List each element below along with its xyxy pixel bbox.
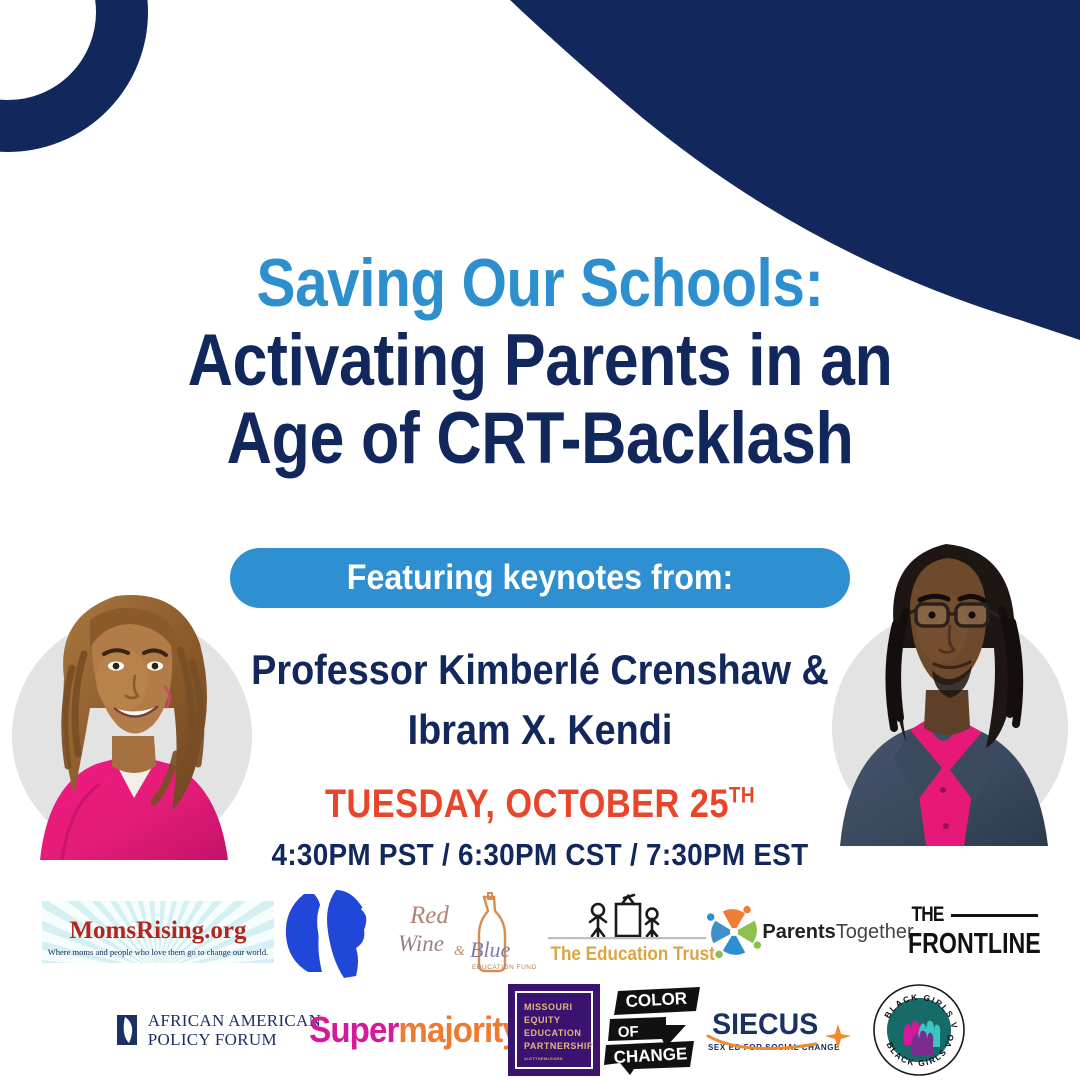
meep-line-1: MISSOURI — [524, 1001, 584, 1014]
svg-text:OF: OF — [618, 1023, 639, 1041]
save-the-date-poster: SAVE THE DATE! Saving Our Schools: Activ… — [0, 0, 1080, 1080]
momsrising-wordmark: MomsRising.org — [42, 917, 274, 945]
event-datetime: TUESDAY, OCTOBER 25TH 4:30PM PST / 6:30P… — [0, 782, 1080, 873]
speaker-line-2: Ibram X. Kendi — [54, 700, 1026, 760]
page-title: Saving Our Schools: Activating Parents i… — [0, 248, 1080, 477]
frontline-rule — [951, 914, 1038, 917]
logo-the-education-trust: The Education Trust — [542, 890, 712, 974]
parents-together-wordmark: ParentsTogether — [762, 921, 913, 944]
supermajority-majority: majority — [399, 1009, 520, 1050]
parents-together-bold: Parents — [762, 921, 835, 943]
logo-supermajority: Supermajority — [322, 1002, 508, 1058]
logo-missouri-equity-education-partnership: MISSOURI EQUITY EDUCATION PARTNERSHIP #L… — [508, 984, 600, 1076]
meep-line-3: EDUCATION — [524, 1027, 584, 1040]
logo-parents-together: ParentsTogether — [712, 895, 908, 969]
svg-text:Red: Red — [409, 902, 449, 929]
logo-black-girls-vote: BLACK GIRLS VOTE BLACK GIRLS VOTE BLACK … — [872, 983, 966, 1077]
meep-line-2: EQUITY — [524, 1014, 584, 1027]
logo-the-frontline: THE FRONTLINE — [908, 901, 1038, 963]
partner-logo-row-1: MomsRising.org Where moms and people who… — [0, 886, 1080, 978]
svg-text:COLOR: COLOR — [625, 989, 687, 1011]
event-date: TUESDAY, OCTOBER 25TH — [76, 782, 1005, 827]
event-date-text: TUESDAY, OCTOBER 25 — [325, 782, 729, 826]
headline-line-3: Age of CRT-Backlash — [76, 401, 1005, 477]
supermajority-wordmark: Supermajority — [310, 1009, 521, 1051]
logo-siecus: SIECUS SEX ED FOR SOCIAL CHANGE — [708, 997, 872, 1063]
logo-momsrising-faces-mark — [274, 886, 392, 978]
aapf-wordmark: AFRICAN AMERICAN POLICY FORUM — [148, 1011, 321, 1049]
partner-logo-row-2: AFRICAN AMERICAN POLICY FORUM Supermajor… — [0, 982, 1080, 1078]
aapf-line-2: POLICY FORUM — [148, 1030, 321, 1049]
frontline-the-label: THE — [912, 903, 944, 927]
speakers-block: Professor Kimberlé Crenshaw & Ibram X. K… — [0, 640, 1080, 759]
meep-inner-frame: MISSOURI EQUITY EDUCATION PARTNERSHIP #L… — [515, 991, 593, 1069]
event-times: 4:30PM PST / 6:30PM CST / 7:30PM EST — [54, 837, 1026, 873]
keynote-pill-label: Featuring keynotes from: — [347, 558, 733, 598]
keynote-pill: Featuring keynotes from: — [230, 548, 850, 608]
svg-text:Blue: Blue — [470, 937, 511, 962]
svg-text:Wine: Wine — [398, 931, 444, 956]
svg-text:EDUCATION FUND: EDUCATION FUND — [472, 964, 537, 971]
logo-color-of-change: COLOR OF CHANGE — [600, 985, 708, 1075]
aapf-line-1: AFRICAN AMERICAN — [148, 1011, 321, 1030]
headline-line-2: Activating Parents in an — [76, 323, 1005, 399]
education-trust-wordmark: The Education Trust — [551, 944, 704, 966]
parents-together-light: Together — [836, 921, 914, 943]
logo-red-wine-and-blue: Red Wine & Blue EDUCATION FUND — [392, 889, 542, 975]
meep-line-4: PARTNERSHIP — [524, 1040, 584, 1053]
frontline-top-row: THE — [908, 903, 1038, 927]
headline-line-1: Saving Our Schools: — [76, 248, 1005, 319]
logo-momsrising: MomsRising.org Where moms and people who… — [42, 901, 274, 963]
meep-hashtag: #LETTHEMLEARN — [524, 1056, 584, 1062]
partner-logos: MomsRising.org Where moms and people who… — [0, 886, 1080, 1078]
momsrising-tagline: Where moms and people who love them go t… — [42, 947, 274, 957]
supermajority-super: Super — [310, 1009, 399, 1050]
corner-ring-decoration — [0, 0, 148, 152]
svg-text:CHANGE: CHANGE — [613, 1044, 688, 1067]
speaker-line-1: Professor Kimberlé Crenshaw & — [54, 640, 1026, 700]
logo-african-american-policy-forum: AFRICAN AMERICAN POLICY FORUM — [114, 1000, 322, 1060]
frontline-wordmark: FRONTLINE — [908, 928, 1012, 961]
event-date-ordinal: TH — [729, 783, 755, 808]
svg-text:&: & — [454, 944, 465, 959]
